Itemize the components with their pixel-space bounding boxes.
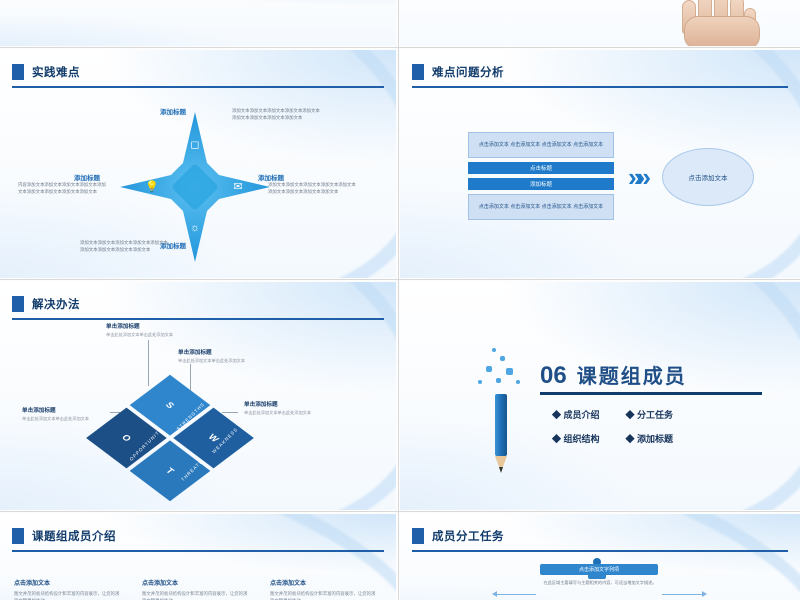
slide-top-left[interactable]: 添加文字 添加文字 添加文字 添加文字 点击添加标题 xyxy=(0,0,396,46)
slide-title: 解决办法 xyxy=(12,296,80,312)
arrow-right-line xyxy=(662,594,702,595)
slide-title: 难点问题分析 xyxy=(412,64,504,80)
node-sub-0: 单击此处添加文本单击此处添加文本 xyxy=(106,332,173,338)
slide-top-right[interactable]: 点击添加文本点击添加文本点击添加文本点击添加文本 团队力量，协同高速，设计合理点… xyxy=(400,0,800,46)
slide-background xyxy=(0,0,396,46)
burst-dot xyxy=(516,380,520,384)
node-label-3: 单击添加标题 xyxy=(244,400,278,408)
section-number: 06 xyxy=(540,362,567,390)
member-col-body-1: 图文并茂的板块结构设计和丰富的内容展示，让您的演示文稿更加生动。 xyxy=(142,590,250,600)
slide-member-introduction[interactable]: 课题组成员介绍 点击添加文本 图文并茂的板块结构设计和丰富的内容展示，让您的演示… xyxy=(0,514,396,600)
node-sub-2: 单击此处添加文本单击此处添加文本 xyxy=(22,416,89,422)
title-underline xyxy=(412,550,788,552)
analysis-result-circle: 点击添加文本 xyxy=(662,148,754,206)
section-title: 课题组成员 xyxy=(577,360,687,389)
slide-title-text: 解决办法 xyxy=(32,296,80,312)
pencil-icon xyxy=(492,394,510,478)
node-label-0: 单击添加标题 xyxy=(106,322,140,330)
camera-icon: ◻ xyxy=(187,136,203,152)
bullet-row-1: ◆ 成员介绍 ◆ 分工任务 xyxy=(552,408,673,421)
slide-title-text: 难点问题分析 xyxy=(432,64,504,80)
burst-dot xyxy=(496,378,501,383)
member-col-head-1: 点击添加文本 xyxy=(142,578,178,587)
message-icon: ✉ xyxy=(230,178,246,194)
cart-icon: ☼ xyxy=(187,220,203,236)
slide-section-members[interactable]: 06 课题组成员 ◆ 成员介绍 ◆ 分工任务 ◆ 组织结构 ◆ 添加标题 xyxy=(400,282,800,510)
hand-photo xyxy=(680,0,766,34)
grid-divider-1 xyxy=(0,47,800,48)
slide-title-text: 实践难点 xyxy=(32,64,80,80)
grid-divider-vertical xyxy=(398,0,399,600)
node-sub-3: 单击此处添加文本单击此处添加文本 xyxy=(244,410,311,416)
star-label-right: 添加标题 xyxy=(258,172,284,182)
node-sub-1: 单击此处添加文本单击此处添加文本 xyxy=(178,358,245,364)
section-underline xyxy=(540,392,762,395)
title-marker-icon xyxy=(412,64,424,80)
task-top-bar: 点击添加文字列项 xyxy=(540,564,658,575)
analysis-box-bottom: 点击添加文本 点击添加文本 点击添加文本 点击添加文本 xyxy=(468,194,614,220)
burst-dot xyxy=(500,356,505,361)
star-label-left: 添加标题 xyxy=(74,172,100,182)
slide-title: 课题组成员介绍 xyxy=(12,528,116,544)
analysis-bar-1: 点击标题 xyxy=(468,162,614,174)
bullet-task-split: ◆ 分工任务 xyxy=(626,408,674,421)
double-chevron-right-icon: »» xyxy=(628,162,645,193)
slide-title-text: 成员分工任务 xyxy=(432,528,504,544)
arrow-left-line xyxy=(496,594,536,595)
presentation-thumbnail-grid: 添加文字 添加文字 添加文字 添加文字 点击添加标题 点击添加文本点击添加文本点… xyxy=(0,0,800,600)
title-marker-icon xyxy=(412,528,424,544)
slide-practice-difficulties[interactable]: 实践难点 ◻ ✉ ☼ 💡 添加标题 添加标题 添加标题 添加标题 添加文本添加文… xyxy=(0,50,396,278)
bullet-add-title: ◆ 添加标题 xyxy=(626,432,674,445)
bullet-row-2: ◆ 组织结构 ◆ 添加标题 xyxy=(552,432,673,445)
title-marker-icon xyxy=(12,64,24,80)
title-underline xyxy=(12,86,384,88)
star-text-right: 添加文本添加文本添加文本添加文本添加文本添加文本添加文本添加文本添加文本 xyxy=(268,182,356,196)
burst-dot xyxy=(492,348,496,352)
slide-title-text: 课题组成员介绍 xyxy=(32,528,116,544)
burst-dot xyxy=(506,368,513,375)
section-heading: 06 课题组成员 xyxy=(540,360,687,390)
grid-divider-2 xyxy=(0,279,800,280)
slide-title: 成员分工任务 xyxy=(412,528,504,544)
title-marker-icon xyxy=(12,296,24,312)
arrow-left-head xyxy=(492,591,497,597)
slide-solutions[interactable]: 解决办法 单击添加标题 单击此处添加文本单击此处添加文本 单击添加标题 单击此处… xyxy=(0,282,396,510)
star-text-left: 内容添加文本添加文本添加文本添加文本添加文本添加文本添加文本添加文本添加文本 xyxy=(18,182,106,196)
burst-dot xyxy=(478,380,482,384)
star-label-top: 添加标题 xyxy=(160,106,186,116)
star-text-bottom: 添加文本添加文本添加文本添加文本添加文本添加文本添加文本添加文本添加文本 xyxy=(80,240,168,254)
grid-divider-3 xyxy=(0,511,800,512)
decorative-swoosh-2 xyxy=(400,282,800,510)
slide-task-assignment[interactable]: 成员分工任务 点击添加文字列项 在此区域主要填写与主题相关的内容，可适当增加文字… xyxy=(400,514,800,600)
node-label-1: 单击添加标题 xyxy=(178,348,212,356)
task-note: 在此区域主要填写与主题相关的内容，可适当增加文字描述。 xyxy=(520,580,680,587)
connector-1 xyxy=(148,340,149,386)
member-col-head-0: 点击添加文本 xyxy=(14,578,50,587)
member-col-body-2: 图文并茂的板块结构设计和丰富的内容展示，让您的演示文稿更加生动。 xyxy=(270,590,378,600)
title-underline xyxy=(412,86,788,88)
analysis-box-top: 点击添加文本 点击添加文本 点击添加文本 点击添加文本 xyxy=(468,132,614,158)
burst-dot xyxy=(486,366,492,372)
title-underline xyxy=(12,550,384,552)
star-text-top: 添加文本添加文本添加文本添加文本添加文本添加文本添加文本添加文本添加文本 xyxy=(232,108,320,122)
bulb-icon: 💡 xyxy=(144,178,160,194)
title-marker-icon xyxy=(12,528,24,544)
bullet-member-intro: ◆ 成员介绍 xyxy=(552,408,600,421)
member-col-head-2: 点击添加文本 xyxy=(270,578,306,587)
connector-4 xyxy=(222,412,238,413)
member-col-body-0: 图文并茂的板块结构设计和丰富的内容展示，让您的演示文稿更加生动。 xyxy=(14,590,122,600)
slide-difficulty-analysis[interactable]: 难点问题分析 点击添加文本 点击添加文本 点击添加文本 点击添加文本 点击标题 … xyxy=(400,50,800,278)
bullet-org-structure: ◆ 组织结构 xyxy=(552,432,600,445)
node-label-2: 单击添加标题 xyxy=(22,406,56,414)
arrow-right-head xyxy=(702,591,707,597)
slide-title: 实践难点 xyxy=(12,64,80,80)
analysis-bar-2: 添加标题 xyxy=(468,178,614,190)
title-underline xyxy=(12,318,384,320)
